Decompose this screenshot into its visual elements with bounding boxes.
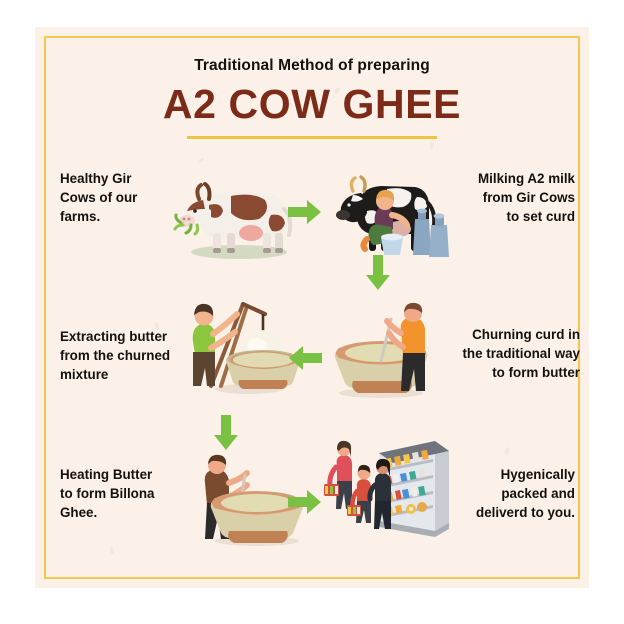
step-6-caption: Hygenically packed and deliverd to you.	[435, 465, 575, 522]
arrow-down-step4-to-step5	[213, 415, 239, 451]
step-1-caption-line: Healthy Gir	[60, 169, 190, 188]
paper-speck	[109, 547, 115, 555]
step-3-caption: Churning curd in the traditional way to …	[430, 325, 580, 382]
arrow-down-step2-to-step3	[365, 255, 391, 291]
infographic-poster: Traditional Method of preparing A2 COW G…	[35, 27, 589, 588]
gir-cow-grazing-illustration	[175, 175, 297, 261]
step-3-caption-line: the traditional way	[430, 344, 580, 363]
step-5-caption-line: Heating Butter	[60, 465, 200, 484]
retail-shelf-shoppers-illustration	[323, 437, 453, 552]
step-1-caption-line: farms.	[60, 207, 190, 226]
page-title: A2 COW GHEE	[35, 81, 589, 128]
milking-cow-with-milk-cans-illustration	[323, 167, 451, 262]
arrow-left-step3-to-step4	[288, 345, 322, 371]
step-1-caption: Healthy Gir Cows of our farms.	[60, 169, 190, 226]
title-underline-rule	[187, 136, 437, 139]
paper-speck	[429, 142, 435, 150]
paper-speck	[503, 447, 510, 456]
arrow-right-step5-to-step6	[288, 489, 322, 515]
step-3-caption-line: to form butter	[430, 363, 580, 382]
step-3-caption-line: Churning curd in	[430, 325, 580, 344]
step-5-caption-line: to form Billona	[60, 484, 200, 503]
step-2-caption-line: from Gir Cows	[445, 188, 575, 207]
step-2-caption: Milking A2 milk from Gir Cows to set cur…	[445, 169, 575, 226]
step-5-caption-line: Ghee.	[60, 503, 200, 522]
step-2-caption-line: Milking A2 milk	[445, 169, 575, 188]
poster-header: Traditional Method of preparing A2 COW G…	[35, 57, 589, 139]
step-2-caption-line: to set curd	[445, 207, 575, 226]
paper-speck	[198, 157, 204, 163]
arrow-right-step1-to-step2	[288, 199, 322, 225]
poster-subtitle: Traditional Method of preparing	[35, 57, 589, 75]
butter-churn-extraction-illustration	[187, 290, 305, 395]
step-6-caption-line: Hygenically	[435, 465, 575, 484]
step-6-caption-line: deliverd to you.	[435, 503, 575, 522]
step-6-caption-line: packed and	[435, 484, 575, 503]
step-5-caption: Heating Butter to form Billona Ghee.	[60, 465, 200, 522]
step-1-caption-line: Cows of our	[60, 188, 190, 207]
